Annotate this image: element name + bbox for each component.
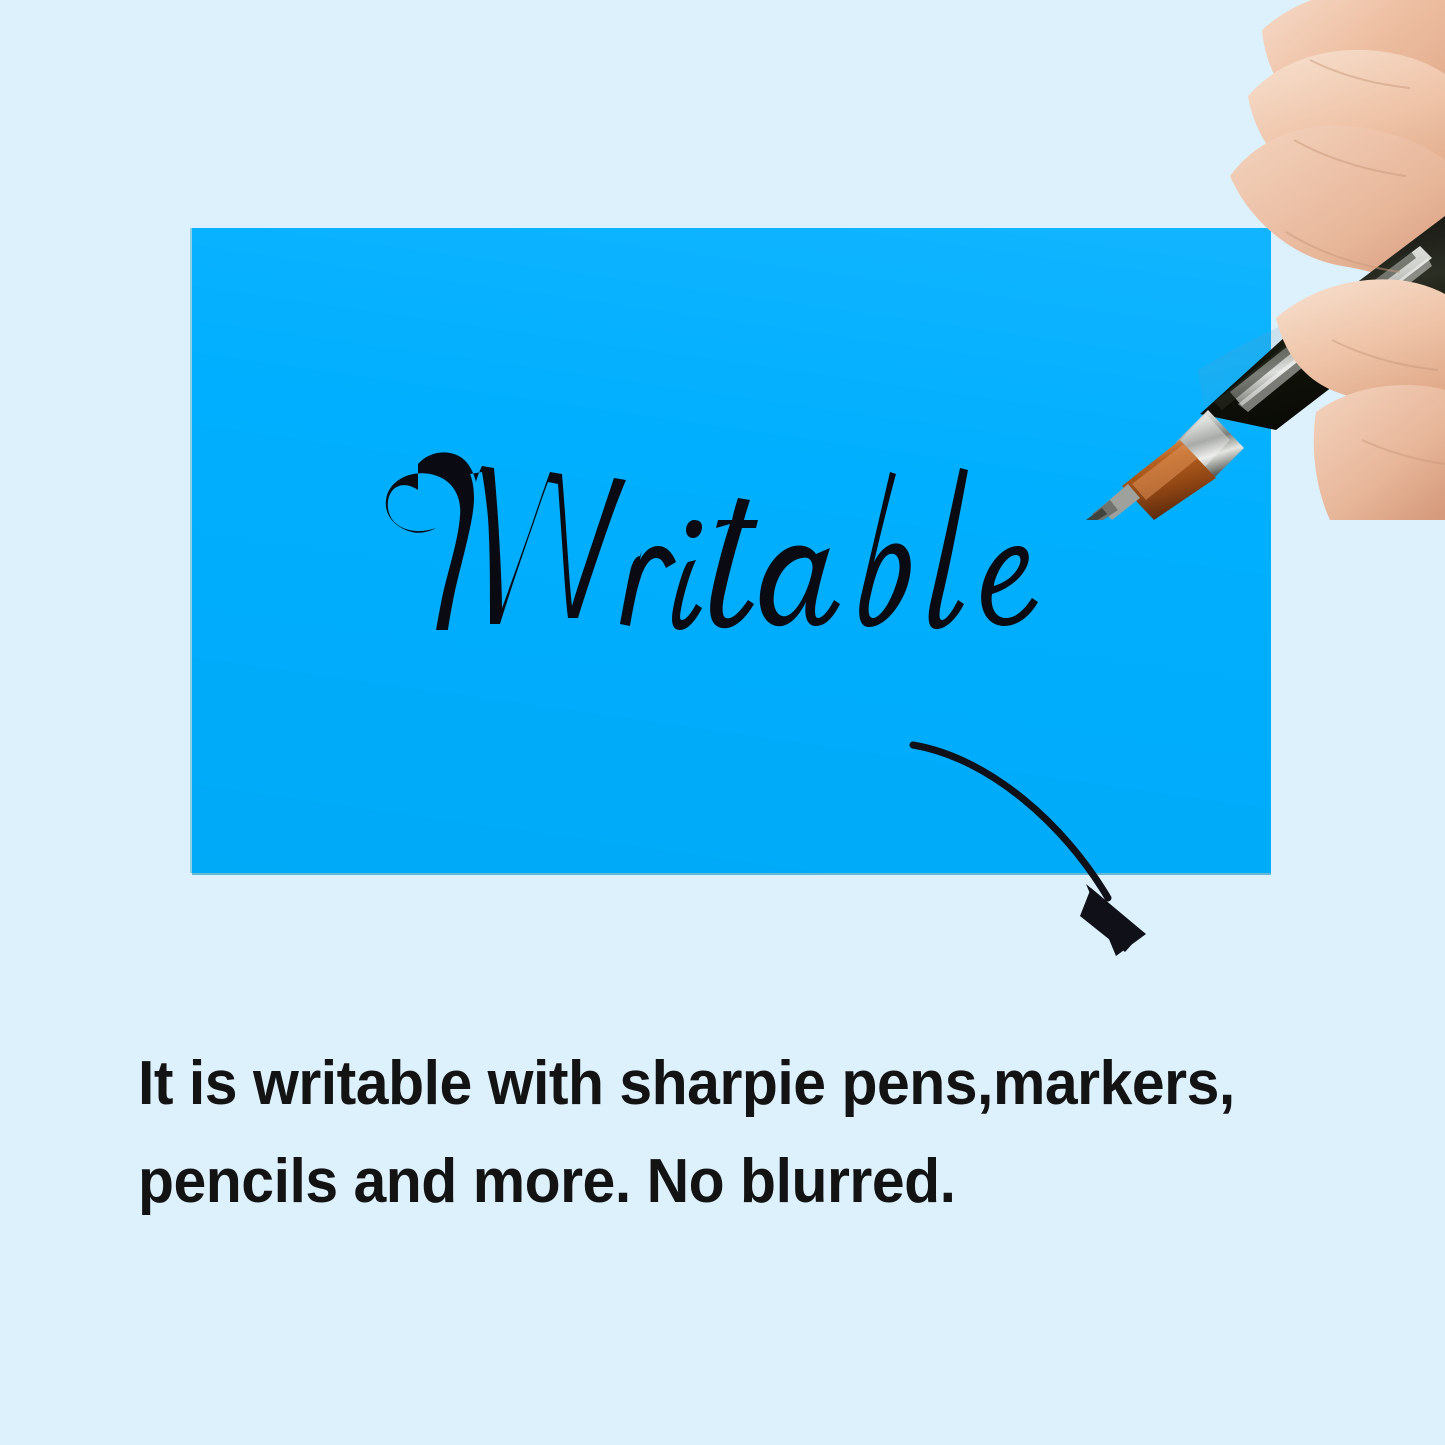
hand-holding-pen (1080, 0, 1445, 520)
curved-pointer-arrow (880, 720, 1190, 970)
caption-line-1: It is writable with sharpie pens,markers… (138, 1035, 1345, 1133)
script-word-writable (378, 438, 1078, 648)
product-feature-image: It is writable with sharpie pens,markers… (0, 0, 1445, 1445)
caption-text: It is writable with sharpie pens,markers… (138, 1035, 1345, 1231)
caption-line-2: pencils and more. No blurred. (138, 1133, 1345, 1231)
